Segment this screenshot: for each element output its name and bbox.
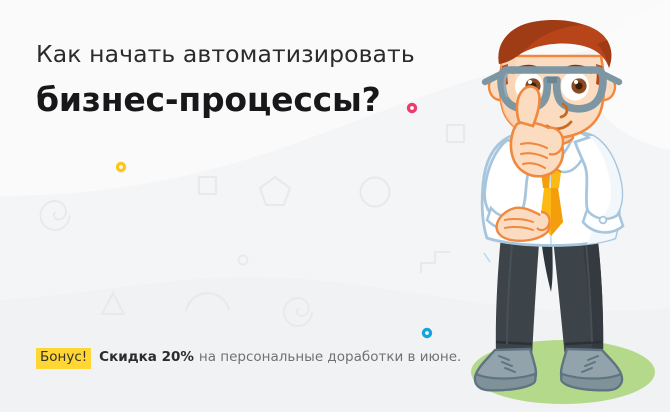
headline-line-1: Как начать автоматизировать <box>36 42 466 68</box>
bonus-badge: Бонус! <box>36 348 91 369</box>
promo-banner: Как начать автоматизировать бизнес-проце… <box>0 0 670 412</box>
bonus-offer-row: Бонус! Скидка 20% на персональные дорабо… <box>36 348 461 369</box>
businessman-illustration <box>455 12 670 412</box>
discount-description: на персональные доработки в июне. <box>199 349 461 365</box>
headline-block: Как начать автоматизировать бизнес-проце… <box>36 42 466 118</box>
page-title: бизнес-процессы? <box>36 82 466 118</box>
dot-cyan-icon <box>422 328 432 338</box>
hand-lower <box>497 208 550 241</box>
dot-yellow-icon <box>116 162 126 172</box>
discount-label: Скидка 20% <box>99 349 194 365</box>
